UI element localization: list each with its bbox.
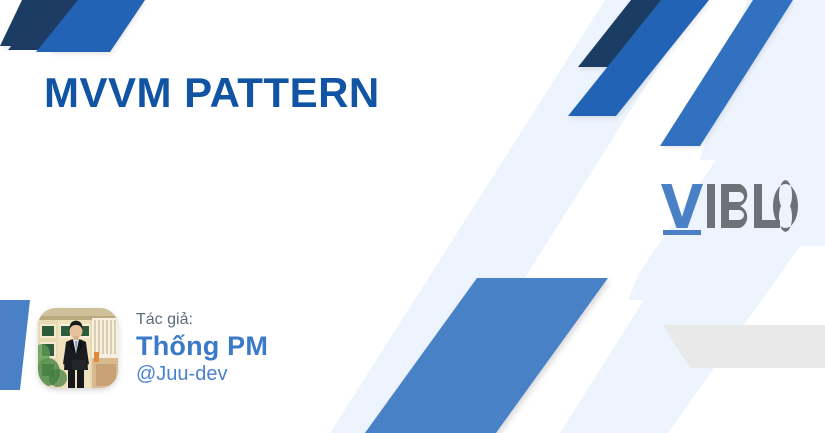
viblo-wordmark — [707, 180, 798, 232]
viblo-logo — [658, 178, 808, 238]
author-label: Tác giả: — [136, 309, 268, 331]
viblo-v-underline — [663, 230, 701, 235]
viblo-logo-icon — [658, 178, 808, 238]
author-handle: @Juu-dev — [136, 362, 268, 387]
page-title: MVVM PATTERN — [44, 72, 380, 114]
viblo-v-mark — [661, 184, 703, 228]
avatar — [38, 308, 118, 388]
bottom-right-gray-parallelogram — [663, 325, 825, 368]
author-name: Thống PM — [136, 330, 268, 362]
author-block: Tác giả: Thống PM @Juu-dev — [38, 308, 268, 388]
author-text: Tác giả: Thống PM @Juu-dev — [136, 309, 268, 388]
viblo-article-banner: MVVM PATTERN — [0, 0, 825, 433]
avatar-photo — [38, 308, 118, 388]
